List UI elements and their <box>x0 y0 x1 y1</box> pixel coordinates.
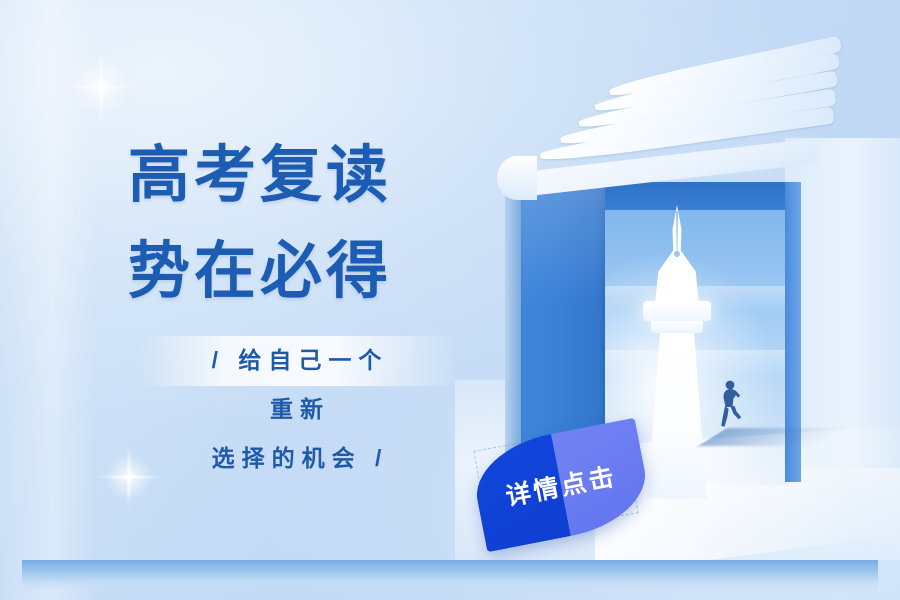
headline-line-1: 高考复读 <box>128 128 488 224</box>
pen-nib-slit <box>676 211 678 255</box>
cta-label: 详情点击 <box>468 418 655 553</box>
page-title: 高考复读 势在必得 <box>128 128 488 320</box>
sparkle-icon <box>62 48 140 126</box>
tower-collar-lower <box>651 319 703 333</box>
cta-button-wrapper[interactable]: 详情点击 <box>470 425 670 545</box>
subtitle-block: / 给自己一个 重新 选择的机会 / <box>120 336 480 483</box>
subtitle-line-1: / 给自己一个 <box>120 336 480 385</box>
bottom-accent-bar <box>22 560 878 590</box>
tower-collar <box>643 301 711 321</box>
poster-canvas: 高考复读 势在必得 / 给自己一个 重新 选择的机会 / 详情点击 <box>0 0 900 600</box>
book-spine-nose <box>497 156 537 200</box>
running-person-silhouette <box>717 380 743 432</box>
subtitle-line-2: 重新 <box>120 385 480 434</box>
left-light-band <box>0 0 96 600</box>
subtitle-line-3: 选择的机会 / <box>120 434 480 483</box>
fanned-pages <box>475 60 855 210</box>
pen-nib-breather-hole <box>674 251 680 257</box>
cta-button[interactable]: 详情点击 <box>468 418 655 553</box>
headline-line-2: 势在必得 <box>128 224 488 320</box>
